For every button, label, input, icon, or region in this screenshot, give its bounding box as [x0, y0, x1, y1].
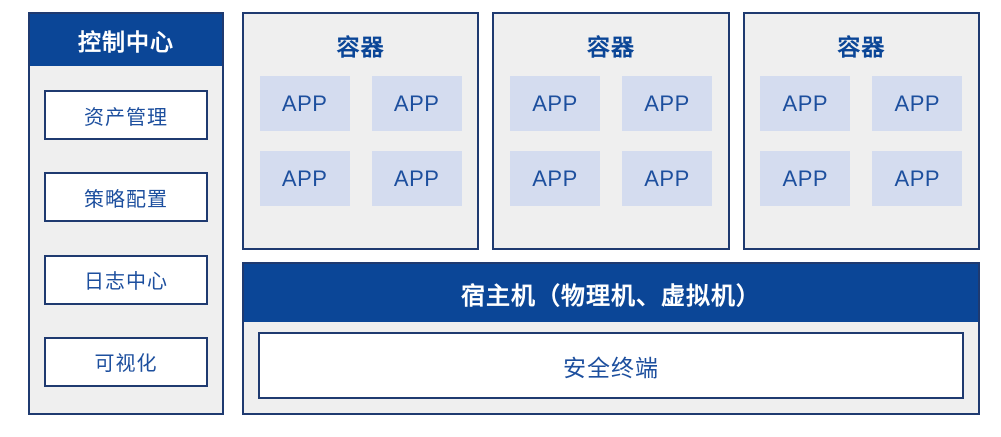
container-title: 容器 [337, 28, 385, 62]
architecture-diagram: 控制中心 资产管理 策略配置 日志中心 可视化 容器 APP APP [0, 0, 1001, 437]
app-box: APP [622, 151, 712, 206]
app-box: APP [260, 76, 350, 131]
app-box: APP [760, 151, 850, 206]
control-item-policy-config[interactable]: 策略配置 [44, 172, 208, 222]
host-machine-header: 宿主机（物理机、虚拟机） [244, 264, 978, 322]
control-center-item-list: 资产管理 策略配置 日志中心 可视化 [30, 66, 222, 413]
runtime-stack: 容器 APP APP APP APP 容器 APP APP APP APP [242, 12, 980, 415]
container-box-1: 容器 APP APP APP APP [242, 12, 479, 250]
app-box: APP [760, 76, 850, 131]
control-item-log-center[interactable]: 日志中心 [44, 255, 208, 305]
control-item-visualization[interactable]: 可视化 [44, 337, 208, 387]
app-box: APP [372, 76, 462, 131]
control-item-asset-management[interactable]: 资产管理 [44, 90, 208, 140]
control-item-label: 资产管理 [84, 101, 168, 130]
app-grid: APP APP APP APP [510, 76, 712, 206]
container-title: 容器 [587, 28, 635, 62]
control-item-label: 策略配置 [84, 183, 168, 212]
container-title: 容器 [837, 28, 885, 62]
control-item-label: 可视化 [95, 347, 158, 376]
app-box: APP [872, 151, 962, 206]
app-box: APP [510, 76, 600, 131]
app-box: APP [260, 151, 350, 206]
app-box: APP [622, 76, 712, 131]
control-center-panel: 控制中心 资产管理 策略配置 日志中心 可视化 [28, 12, 224, 415]
app-box: APP [510, 151, 600, 206]
containers-row: 容器 APP APP APP APP 容器 APP APP APP APP [242, 12, 980, 250]
container-box-3: 容器 APP APP APP APP [743, 12, 980, 250]
control-center-header: 控制中心 [30, 14, 222, 66]
security-terminal-box: 安全终端 [258, 332, 964, 399]
host-machine-body: 安全终端 [244, 322, 978, 413]
host-machine-panel: 宿主机（物理机、虚拟机） 安全终端 [242, 262, 980, 415]
control-item-label: 日志中心 [84, 265, 168, 294]
app-grid: APP APP APP APP [760, 76, 962, 206]
app-grid: APP APP APP APP [260, 76, 462, 206]
app-box: APP [372, 151, 462, 206]
container-box-2: 容器 APP APP APP APP [492, 12, 729, 250]
app-box: APP [872, 76, 962, 131]
